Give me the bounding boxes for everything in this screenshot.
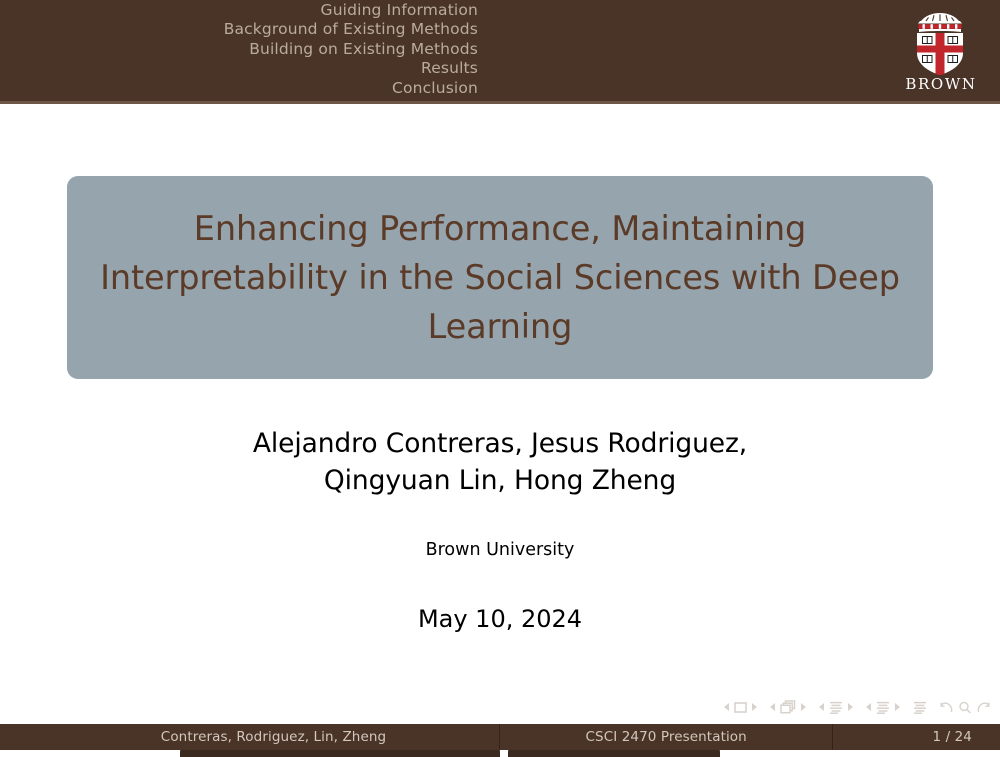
- footer-authors: Contreras, Rodriguez, Lin, Zheng: [0, 724, 500, 750]
- beamer-navigation-symbols: [724, 697, 990, 717]
- author-list: Alejandro Contreras, Jesus Rodriguez, Qi…: [0, 425, 1000, 499]
- header-bar: Guiding Information Background of Existi…: [0, 0, 1000, 101]
- presentation-group: [913, 701, 927, 714]
- presentation-icon[interactable]: [913, 701, 927, 714]
- nav-item-conclusion[interactable]: Conclusion: [0, 79, 478, 98]
- forward-icon[interactable]: [976, 701, 990, 714]
- subsection-next-icon[interactable]: [848, 703, 853, 711]
- nav-item-building-on-existing-methods[interactable]: Building on Existing Methods: [0, 40, 478, 59]
- subsection-prev-icon[interactable]: [819, 703, 824, 711]
- footer-page-indicator: 1 / 24: [833, 724, 1000, 750]
- history-group: [940, 701, 990, 714]
- header-divider: [0, 101, 1000, 104]
- frames-stack-icon[interactable]: [780, 700, 796, 714]
- slide-navigation-group: [724, 702, 757, 713]
- nav-item-background-of-existing-methods[interactable]: Background of Existing Methods: [0, 20, 478, 39]
- slide-prev-icon[interactable]: [724, 703, 729, 711]
- author-line-1: Alejandro Contreras, Jesus Rodriguez,: [0, 425, 1000, 462]
- slide-next-icon[interactable]: [752, 703, 757, 711]
- section-icon[interactable]: [876, 701, 890, 714]
- presentation-title: Enhancing Performance, Maintaining Inter…: [67, 204, 933, 351]
- nav-item-guiding-information[interactable]: Guiding Information: [0, 1, 478, 20]
- section-prev-icon[interactable]: [866, 703, 871, 711]
- institute: Brown University: [0, 538, 1000, 562]
- section-next-icon[interactable]: [895, 703, 900, 711]
- nav-item-results[interactable]: Results: [0, 59, 478, 78]
- presentation-date: May 10, 2024: [0, 603, 1000, 636]
- footer-presentation-title: CSCI 2470 Presentation: [500, 724, 833, 750]
- back-icon[interactable]: [940, 701, 954, 714]
- subsection-navigation-group: [819, 701, 853, 714]
- footer-bar: Contreras, Rodriguez, Lin, Zheng CSCI 24…: [0, 724, 1000, 750]
- search-icon[interactable]: [958, 701, 972, 714]
- brown-wordmark: BROWN: [892, 75, 988, 93]
- brown-university-logo: BROWN: [892, 4, 988, 98]
- section-navigation-group: [866, 701, 900, 714]
- author-line-2: Qingyuan Lin, Hong Zheng: [0, 462, 1000, 499]
- subsection-icon[interactable]: [829, 701, 843, 714]
- frame-next-icon[interactable]: [801, 703, 806, 711]
- section-navigation: Guiding Information Background of Existi…: [0, 0, 478, 98]
- brown-university-shield-icon: [892, 4, 988, 76]
- frame-navigation-group: [770, 700, 806, 714]
- title-block: Enhancing Performance, Maintaining Inter…: [67, 176, 933, 379]
- slide-icon[interactable]: [734, 702, 747, 713]
- frame-prev-icon[interactable]: [770, 703, 775, 711]
